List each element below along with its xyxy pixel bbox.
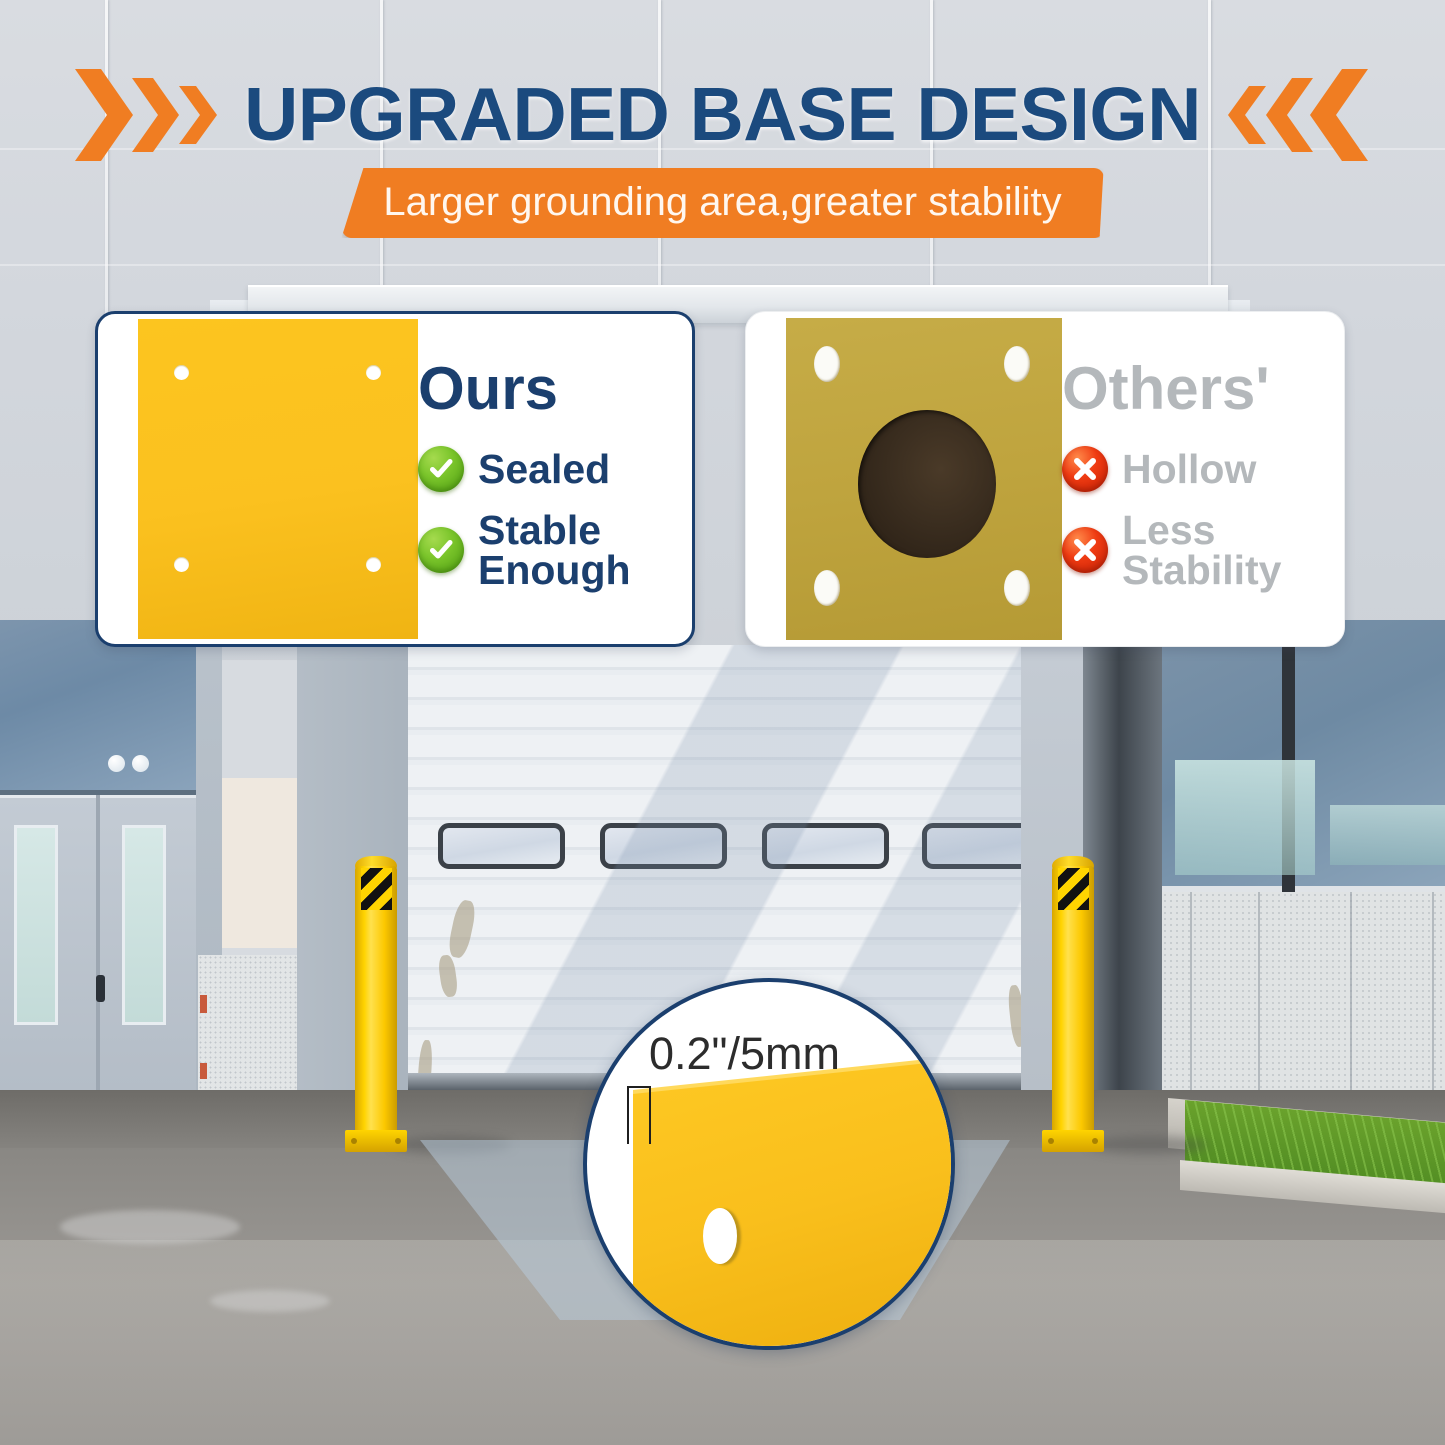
- infographic-stage: UPGRADED BASE DESIGN Larger grounding ar…: [0, 0, 1445, 1445]
- thickness-magnifier-callout: 0.2"/5mm: [583, 978, 955, 1350]
- bolt-hole: [703, 1208, 737, 1264]
- thickness-measurement-label: 0.2"/5mm: [649, 1028, 840, 1080]
- plate-thickness-image: [633, 1059, 955, 1350]
